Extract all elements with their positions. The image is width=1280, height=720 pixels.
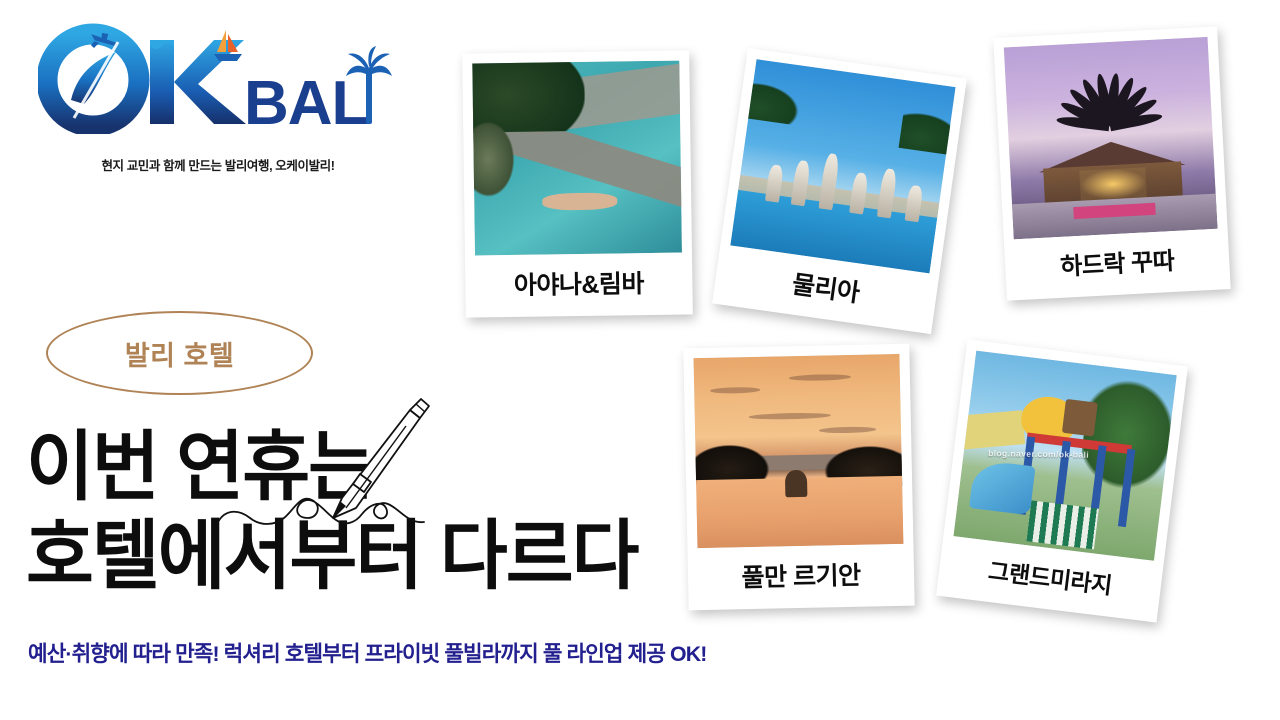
brand-tagline: 현지 교민과 함께 만드는 발리여행, 오케이발리! <box>38 155 398 174</box>
polaroid-caption-ayana: 아야나&림바 <box>475 253 683 318</box>
polaroid-card-hardrock[interactable]: 하드락 꾸따 <box>993 26 1230 300</box>
ok-bali-logo-icon: BAL <box>38 22 398 134</box>
polaroid-caption-pullman: 풀만 르기안 <box>697 544 904 610</box>
headline-line-1: 이번 연휴는 <box>26 432 686 505</box>
headline-line-2: 호텔에서부터 다르다 <box>26 521 686 594</box>
polaroid-card-mulia[interactable]: 물리아 <box>712 48 967 334</box>
subtitle: 예산·취향에 따라 만족! 럭셔리 호텔부터 프라이빗 풀빌라까지 풀 라인업 … <box>28 637 1018 668</box>
photo-watermark: blog.naver.com/ok-bali <box>988 448 1089 460</box>
polaroid-card-pullman[interactable]: 풀만 르기안 <box>683 344 914 611</box>
polaroid-card-ayana[interactable]: 아야나&림바 <box>462 50 693 317</box>
headline: 이번 연휴는 호텔에서부터 다르다 <box>26 432 706 594</box>
category-badge-label: 발리 호텔 <box>125 334 234 373</box>
polaroid-photo-ayana <box>472 61 682 256</box>
polaroid-photo-mulia <box>730 59 955 273</box>
polaroid-photo-hardrock <box>1004 37 1218 239</box>
polaroid-card-mirage[interactable]: blog.naver.com/ok-bali 그랜드미라지 <box>936 339 1188 622</box>
polaroid-photo-mirage: blog.naver.com/ok-bali <box>953 351 1176 561</box>
svg-text:BAL: BAL <box>244 69 368 134</box>
polaroid-photo-pullman <box>693 354 903 548</box>
brand-logo: BAL 현지 교민과 함께 만드는 발리여행, 오케이발리! <box>38 22 398 162</box>
polaroid-caption-hardrock: 하드락 꾸따 <box>1014 229 1221 301</box>
category-badge: 발리 호텔 <box>46 311 313 395</box>
